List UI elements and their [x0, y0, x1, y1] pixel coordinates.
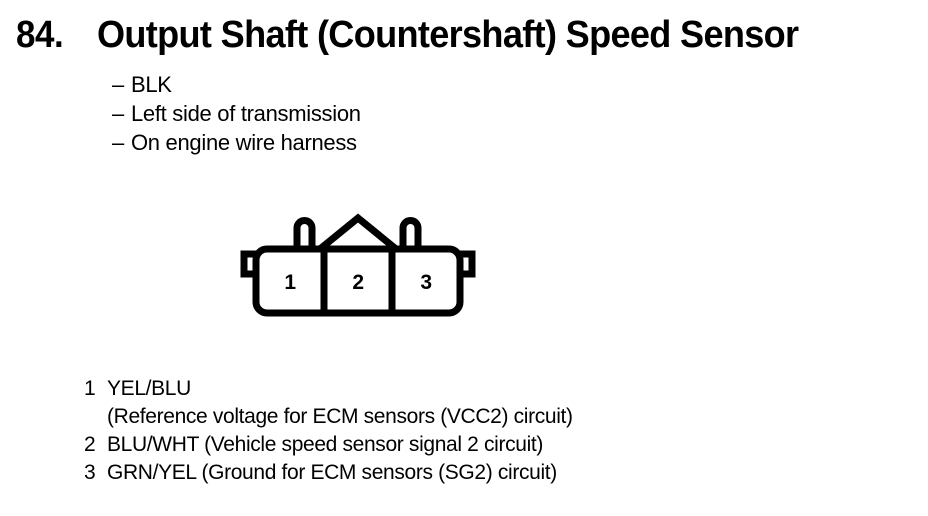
- connector-drawing: 1 2 3: [236, 208, 480, 320]
- page-title: 84. Output Shaft (Countershaft) Speed Se…: [16, 14, 916, 57]
- cavity-number-1: 1: [284, 271, 296, 294]
- legend-pin-number: 2: [84, 431, 107, 459]
- list-item: – BLK: [112, 70, 361, 99]
- pin-legend: 1 YEL/BLU (Reference voltage for ECM sen…: [84, 375, 573, 487]
- connector-center-peak: [320, 218, 396, 249]
- cavity-number-2: 2: [352, 271, 363, 294]
- list-item: – Left side of transmission: [112, 99, 361, 128]
- legend-pin-number: 3: [84, 459, 107, 487]
- item-title: Output Shaft (Countershaft) Speed Sensor: [97, 14, 798, 57]
- dash-bullet-icon: –: [112, 128, 131, 157]
- legend-wire-color: GRN/YEL (Ground for ECM sensors (SG2) ci…: [107, 459, 557, 487]
- legend-description: (Reference voltage for ECM sensors (VCC2…: [107, 403, 573, 431]
- legend-entry-1: 1 YEL/BLU (Reference voltage for ECM sen…: [84, 375, 573, 431]
- item-number: 84.: [16, 14, 63, 57]
- list-item-label: Left side of transmission: [131, 99, 361, 128]
- legend-wire-color: BLU/WHT (Vehicle speed sensor signal 2 c…: [107, 431, 543, 459]
- list-item-label: On engine wire harness: [131, 128, 357, 157]
- list-item: – On engine wire harness: [112, 128, 361, 157]
- dash-bullet-icon: –: [112, 99, 131, 128]
- legend-entry-3: 3 GRN/YEL (Ground for ECM sensors (SG2) …: [84, 459, 573, 487]
- connector-diagram: 1 2 3: [236, 208, 480, 320]
- attribute-list: – BLK – Left side of transmission – On e…: [112, 70, 361, 157]
- legend-pin-number: 1: [84, 375, 107, 403]
- legend-entry-2: 2 BLU/WHT (Vehicle speed sensor signal 2…: [84, 431, 573, 459]
- dash-bullet-icon: –: [112, 70, 131, 99]
- connector-locking-tab-left: [297, 221, 312, 250]
- connector-locking-tab-right: [403, 221, 418, 250]
- page-root: 84. Output Shaft (Countershaft) Speed Se…: [0, 0, 928, 516]
- cavity-number-3: 3: [420, 271, 431, 294]
- legend-wire-color: YEL/BLU: [107, 375, 191, 403]
- list-item-label: BLK: [131, 70, 172, 99]
